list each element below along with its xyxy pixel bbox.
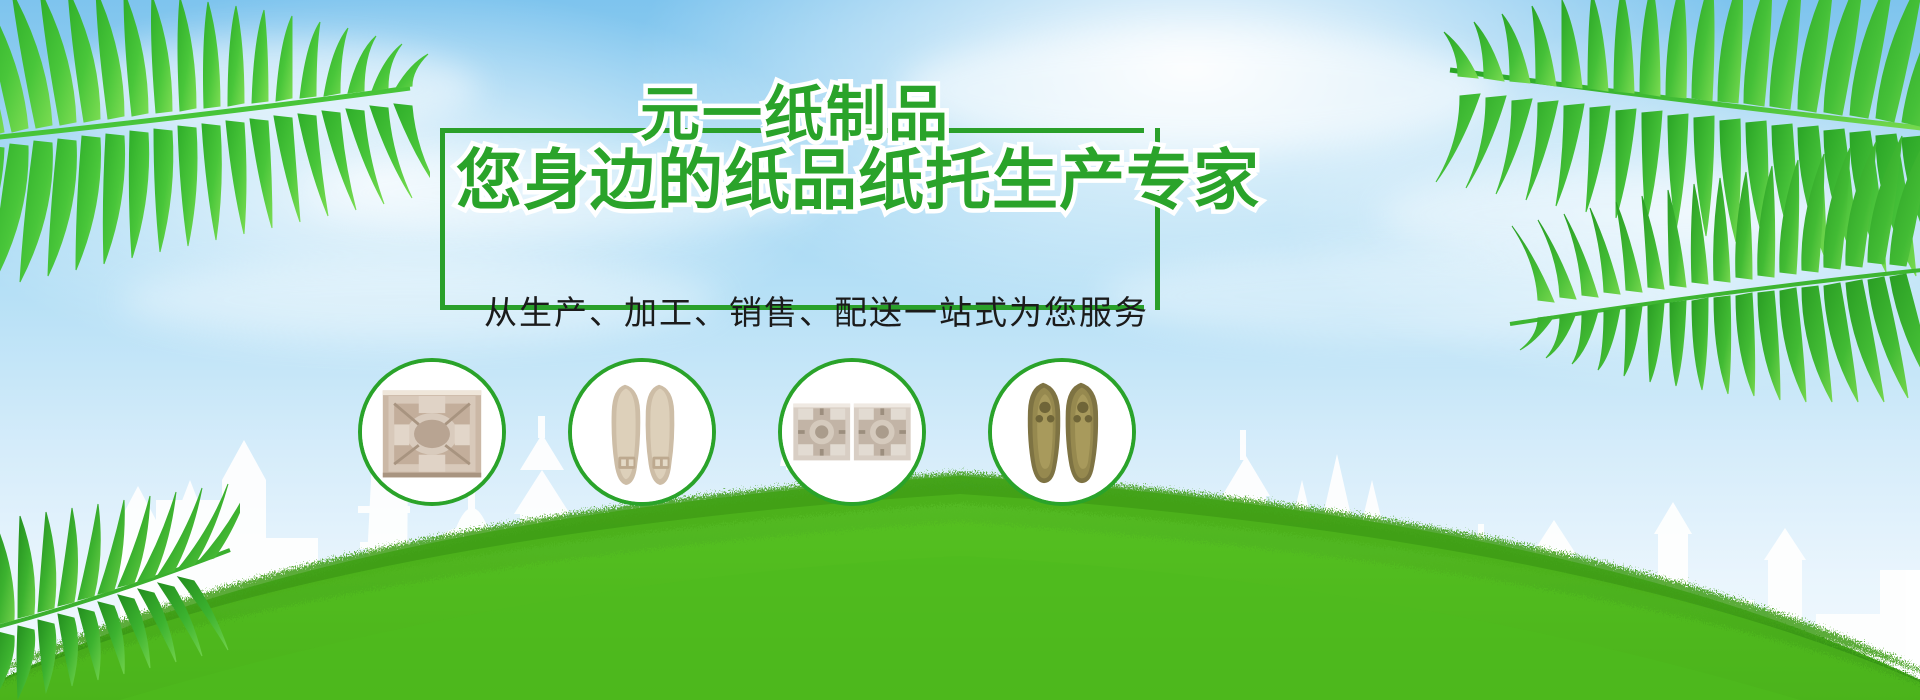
promo-banner: 元一纸制品 您身边的纸品纸托生产专家 从生产、加工、销售、配送一站式为您服务	[0, 0, 1920, 700]
product-circle-group	[0, 0, 1920, 700]
molded-pulp-shoe-tree-pair-icon	[992, 362, 1132, 502]
molded-pulp-shoe-insert-icon	[572, 362, 712, 502]
molded-pulp-square-tray-icon	[362, 362, 502, 502]
molded-pulp-corner-pair-icon	[782, 362, 922, 502]
product-circle-molded-pulp-shoe-insert[interactable]	[568, 358, 716, 506]
product-circle-molded-pulp-shoe-tree-pair[interactable]	[988, 358, 1136, 506]
product-circle-molded-pulp-square-tray[interactable]	[358, 358, 506, 506]
product-circle-molded-pulp-corner-pair[interactable]	[778, 358, 926, 506]
